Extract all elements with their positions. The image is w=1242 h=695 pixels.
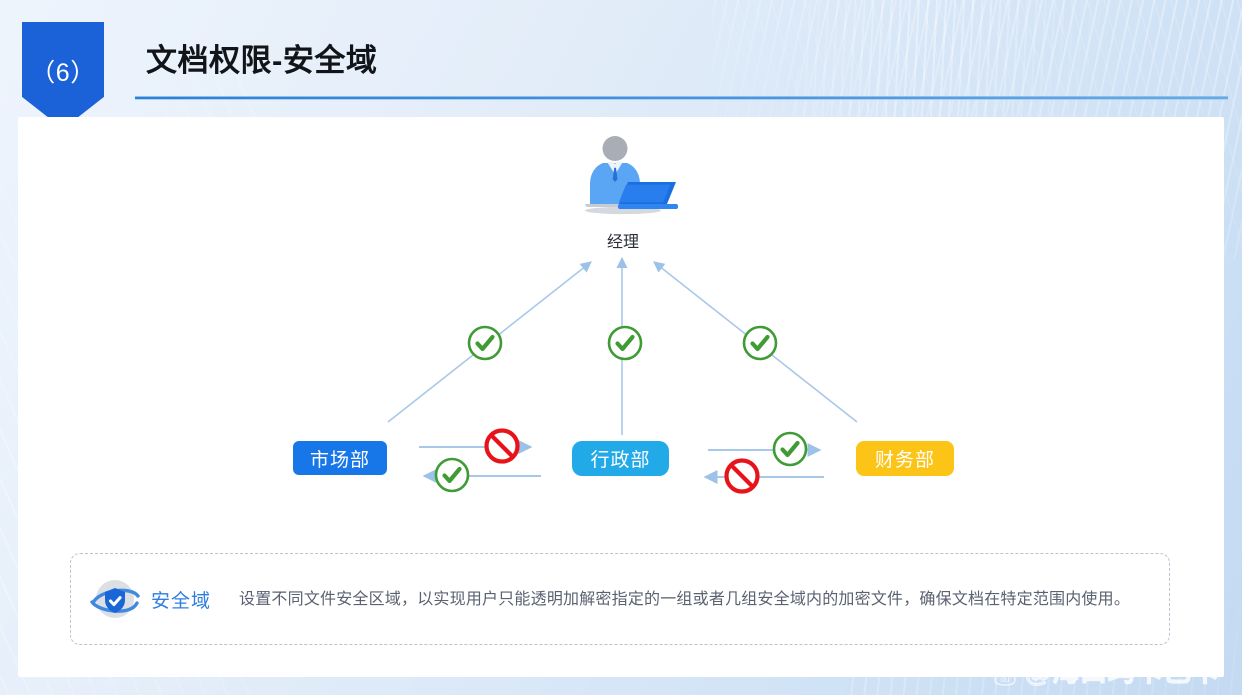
department-label-finance: 财务部 bbox=[875, 445, 935, 472]
node-manager: 经理 bbox=[560, 135, 686, 252]
section-number-label: （6） bbox=[30, 53, 95, 89]
manager-at-laptop-icon bbox=[560, 135, 686, 217]
security-domain-shield-icon bbox=[87, 574, 143, 624]
page-title: 文档权限-安全域 bbox=[146, 35, 377, 80]
manager-label: 经理 bbox=[560, 228, 686, 252]
title-divider bbox=[135, 96, 1228, 100]
footnote-term: 安全域 bbox=[151, 586, 211, 613]
department-label-admin: 行政部 bbox=[590, 445, 650, 472]
footnote-description: 设置不同文件安全区域，以实现用户只能透明加解密指定的一组或者几组安全域内的加密文… bbox=[239, 587, 1130, 612]
department-label-market: 市场部 bbox=[310, 445, 370, 472]
slide-canvas: （6） 文档权限-安全域 经理 bbox=[0, 0, 1242, 695]
footnote-box: 安全域 设置不同文件安全区域，以实现用户只能透明加解密指定的一组或者几组安全域内… bbox=[70, 553, 1170, 645]
node-department-admin[interactable]: 行政部 bbox=[572, 441, 669, 476]
node-department-finance[interactable]: 财务部 bbox=[856, 441, 954, 476]
node-department-market[interactable]: 市场部 bbox=[293, 441, 387, 475]
section-number-badge: （6） bbox=[22, 22, 104, 129]
